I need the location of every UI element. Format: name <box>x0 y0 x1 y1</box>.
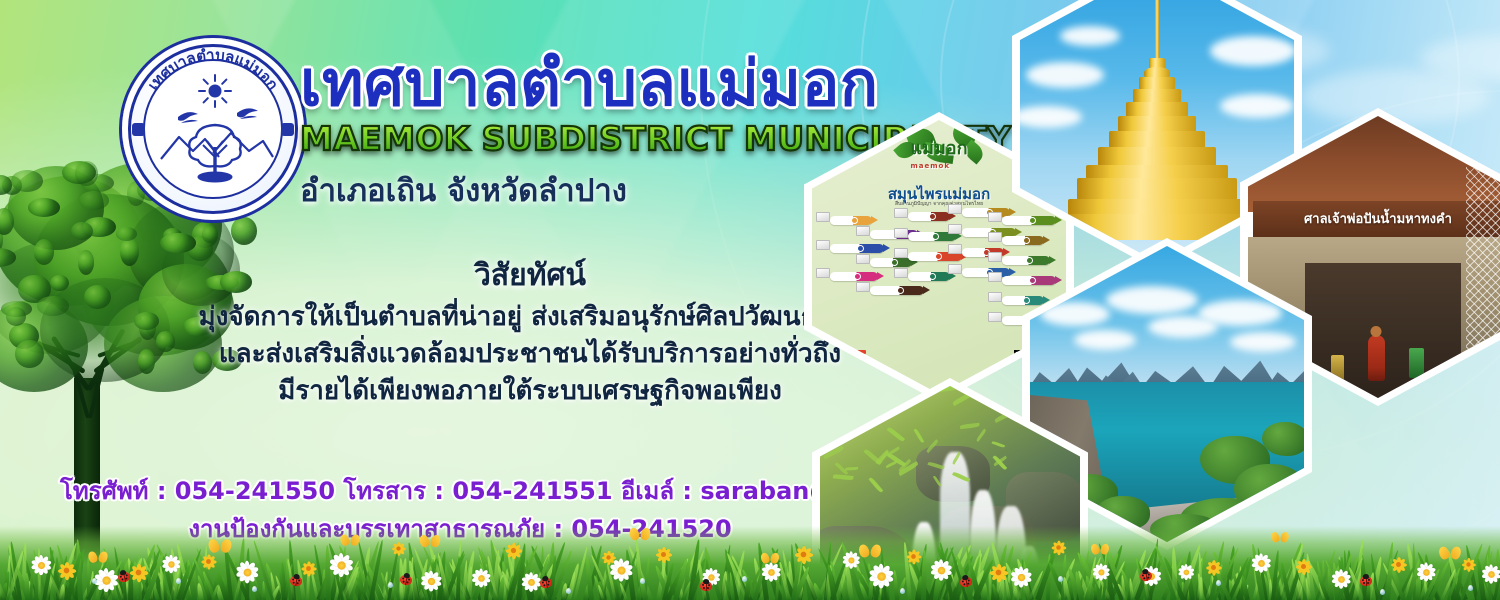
butterfly-wing <box>349 534 361 547</box>
poster-product-box <box>894 208 908 218</box>
poster-pill-dot <box>857 245 864 252</box>
poster-pill-dot <box>1029 277 1036 284</box>
daisy-flower <box>235 560 260 585</box>
butterfly-wing <box>857 543 870 558</box>
butterfly-wing <box>1279 531 1290 543</box>
poster-pill-dot <box>897 287 904 294</box>
poster-pill-dot <box>929 213 936 220</box>
leaf <box>864 391 884 403</box>
yellow-flower-center <box>64 567 70 573</box>
butterfly-wing <box>869 543 882 558</box>
daisy-flower <box>471 568 492 589</box>
butterfly-icon <box>209 539 232 555</box>
daisy-flower <box>419 570 442 593</box>
poster-product-box <box>856 282 870 292</box>
pagoda-caption: วัดทุ่ง บ้านทุ่ง อำเภอ <box>1255 0 1286 7</box>
dew-drop <box>566 588 571 594</box>
yellow-flower <box>989 563 1009 583</box>
dew-drop <box>388 582 393 588</box>
daisy-center <box>478 575 485 582</box>
poster-product-pill <box>908 272 950 281</box>
butterfly-icon <box>630 528 651 542</box>
cloud <box>1230 332 1296 352</box>
sun-icon <box>199 75 231 107</box>
tree-leaf-cluster <box>34 239 54 264</box>
daisy-center <box>528 579 535 586</box>
vegetation-patch <box>1262 422 1304 456</box>
tree-leaf-cluster <box>15 340 44 367</box>
daisy-center <box>937 567 945 575</box>
poster-product-box <box>988 292 1002 302</box>
cloud <box>1074 330 1136 350</box>
poster-pill-dot <box>935 253 942 260</box>
butterfly-wing <box>760 551 771 564</box>
poster-product-box <box>816 268 830 278</box>
vision-statement: วิสัยทัศน์ มุ่งจัดการให้เป็นตำบลที่น่าอย… <box>180 252 880 410</box>
poster-product-pill <box>1002 276 1056 285</box>
daisy-center <box>168 561 174 567</box>
butterfly-icon <box>420 534 440 548</box>
butterfly-wing <box>1099 543 1110 556</box>
poster-product-box <box>988 232 1002 242</box>
poster-chip <box>840 362 866 366</box>
butterfly-wing <box>207 537 221 553</box>
daisy-center <box>848 557 854 563</box>
leaf <box>879 387 892 393</box>
yellow-flower <box>655 546 672 563</box>
shrine-signboard: ศาลเจ้าพ่อปันน้ำมหาทงคำ <box>1253 201 1500 238</box>
pagoda-caption-line3: อำเภอ <box>1255 0 1286 7</box>
tree-leaf-cluster <box>75 161 97 186</box>
poster-pill-dot <box>1026 257 1033 264</box>
poster-product-box <box>816 240 830 250</box>
yellow-flower <box>1051 540 1067 556</box>
poster-product-pill <box>870 286 924 295</box>
poster-subtitle: สืบสานภูมิปัญญา จากคุณค่าสมุนไพรไทย <box>812 200 1066 208</box>
yellow-flower <box>391 541 406 556</box>
daisy-center <box>337 561 345 569</box>
poster-product-box <box>988 312 1002 322</box>
butterfly-icon <box>1439 546 1460 561</box>
yellow-flower <box>129 562 149 582</box>
poster-product-box <box>948 244 962 254</box>
tree-leaf-cluster <box>11 170 43 192</box>
yellow-flower <box>200 554 216 570</box>
daisy-center <box>708 574 714 580</box>
ladybug-spot <box>708 584 710 586</box>
butterfly-wing <box>429 533 441 547</box>
cloud <box>1148 316 1218 338</box>
bird-icon <box>178 112 198 123</box>
ladybug-icon <box>399 574 413 586</box>
dew-drop <box>1380 589 1385 595</box>
yellow-flower-center <box>606 555 610 559</box>
tree-leaf-cluster <box>6 307 27 326</box>
yellow-flower <box>505 542 523 560</box>
emblem-inner-circle <box>143 59 283 199</box>
yellow-flower <box>1205 559 1222 576</box>
poster-pill-dot <box>1023 237 1030 244</box>
daisy-flower <box>1330 569 1351 590</box>
daisy-center <box>1017 573 1024 580</box>
daisy-flower <box>1415 561 1436 582</box>
poster-product-box <box>894 268 908 278</box>
municipality-emblem: เทศบาลตำบลแม่มอก จังหวัดลำปาง <box>122 38 304 220</box>
tree-leaf-cluster <box>84 285 111 309</box>
tree-leaf-cluster <box>79 191 109 210</box>
daisy-center <box>102 576 110 584</box>
vision-line: มีรายได้เพียงพอภายใต้ระบบเศรษฐกิจพอเพียง <box>180 373 880 410</box>
poster-product-pill <box>830 272 878 281</box>
daisy-center <box>1183 569 1189 575</box>
poster-product-pill <box>1002 256 1050 265</box>
poster-product-box <box>948 264 962 274</box>
yellow-flower-center <box>1211 565 1216 570</box>
poster-product-box <box>894 228 908 238</box>
daisy-flower <box>841 550 860 569</box>
poster-product-pill <box>962 268 1010 277</box>
butterfly-wing <box>1090 543 1101 556</box>
ladybug-head <box>403 572 410 578</box>
butterfly-wing <box>1449 545 1462 560</box>
tree-icon <box>189 125 241 182</box>
leaf <box>842 415 860 424</box>
statue-head <box>1371 326 1382 337</box>
grass-border <box>0 526 1500 600</box>
dew-drop <box>92 578 97 584</box>
poster-product-pill <box>870 258 912 267</box>
daisy-flower <box>520 571 542 593</box>
yellow-flower <box>794 545 813 564</box>
daisy-flower <box>867 562 894 589</box>
butterfly-wing <box>87 550 99 564</box>
poster-product-box <box>894 248 908 258</box>
leaf <box>845 395 867 406</box>
butterfly-icon <box>859 544 881 559</box>
daisy-flower <box>1480 563 1500 584</box>
butterfly-wing <box>1438 545 1451 560</box>
poster-product-box <box>988 252 1002 262</box>
poster-product-box <box>856 226 870 236</box>
yellow-flower <box>1461 557 1476 572</box>
yellow-flower <box>300 561 316 577</box>
leaf <box>845 467 858 471</box>
yellow-flower <box>906 548 922 564</box>
bird-icon <box>237 108 258 119</box>
poster-pill-dot <box>854 273 861 280</box>
yellow-flower-center <box>1301 564 1306 569</box>
poster-pill-dot <box>1029 217 1036 224</box>
ladybug-icon <box>1360 576 1372 586</box>
yellow-flower <box>57 560 76 579</box>
tree-leaf-cluster <box>50 275 69 292</box>
poster-logo-main: แม่มอก <box>910 138 967 159</box>
poster-pill-dot <box>1023 297 1030 304</box>
vision-line: มุ่งจัดการให้เป็นตำบลที่น่าอยู่ ส่งเสริม… <box>180 299 880 336</box>
yellow-flower <box>601 550 616 565</box>
shrine-caption: ศาลเจ้าพ่อปันน้ำมหาทงคำ <box>1304 208 1452 229</box>
tree-leaf-cluster <box>78 250 95 275</box>
tree-leaf-cluster <box>134 312 160 330</box>
butterfly-wing <box>219 537 233 553</box>
daisy-center <box>1098 569 1104 575</box>
daisy-center <box>877 571 886 580</box>
poster-product-pill <box>1002 296 1044 305</box>
dew-drop <box>1058 576 1063 582</box>
tree-leaf-cluster <box>231 217 257 244</box>
shrine-mesh-gate <box>1466 167 1500 398</box>
poster-logo-sub: maemok <box>910 162 967 170</box>
shrine-statue <box>1368 335 1385 381</box>
ladybug-icon <box>1139 570 1152 582</box>
butterfly-wing <box>1270 531 1281 543</box>
daisy-center <box>37 561 44 568</box>
poster-product-pill <box>1002 236 1044 245</box>
daisy-center <box>427 578 434 585</box>
butterfly-wing <box>628 527 641 542</box>
daisy-flower <box>328 552 354 578</box>
ladybug-head <box>703 579 709 584</box>
emblem-right-ornament <box>281 123 294 136</box>
shrine-offering <box>1409 348 1424 378</box>
poster-logo: แม่มอก maemok <box>910 133 967 170</box>
poster-product-box <box>948 224 962 234</box>
emblem-left-ornament <box>132 123 145 136</box>
butterfly-wing <box>769 551 780 564</box>
butterfly-icon <box>1271 532 1288 544</box>
butterfly-icon <box>761 552 779 564</box>
tree-leaf-cluster <box>116 227 137 241</box>
poster-product-pill <box>908 212 950 221</box>
municipality-banner: เทศบาลตำบลแม่มอก จังหวัดลำปาง <box>0 0 1500 600</box>
cloud <box>1106 286 1198 314</box>
yellow-flower <box>1295 558 1312 575</box>
contact-phone-fax-email: โทรศัพท์ : 054-241550 โทรสาร : 054-24155… <box>60 472 860 510</box>
butterfly-wing <box>97 550 109 564</box>
dew-drop <box>640 578 645 584</box>
leaf <box>828 410 842 417</box>
daisy-flower <box>1177 563 1195 581</box>
daisy-center <box>1423 568 1430 575</box>
poster-pill-dot <box>891 259 898 266</box>
vision-line: และส่งเสริมสิ่งแวดล้อมประชาชนได้รับบริกา… <box>180 336 880 373</box>
butterfly-icon <box>88 551 107 564</box>
poster-product-box <box>948 204 962 214</box>
tree-leaf-cluster <box>37 296 68 316</box>
poster-product-pill <box>830 244 884 253</box>
butterfly-wing <box>339 534 351 547</box>
yellow-flower <box>1390 557 1407 574</box>
poster-product-pill <box>1002 216 1056 225</box>
poster-product-pill <box>830 216 872 225</box>
ladybug-spot <box>707 587 709 589</box>
daisy-flower <box>1250 552 1272 574</box>
poster-product-box <box>988 272 1002 282</box>
butterfly-wing <box>639 527 652 542</box>
poster-pill-dot <box>932 233 939 240</box>
poster-product-pill <box>962 208 1010 217</box>
emblem-scene <box>145 61 285 201</box>
daisy-flower <box>161 554 181 574</box>
tree-leaf-cluster <box>160 233 196 253</box>
poster-product-box <box>988 212 1002 222</box>
pagoda-spire <box>1155 0 1159 64</box>
ladybug-icon <box>700 580 712 590</box>
dew-drop <box>1468 585 1473 591</box>
daisy-flower <box>30 554 52 576</box>
yellow-flower-center <box>511 548 516 553</box>
dew-drop <box>252 586 257 592</box>
tree-leaf-cluster <box>71 222 93 240</box>
daisy-center <box>768 568 775 575</box>
butterfly-icon <box>1091 544 1109 556</box>
poster-chip <box>840 368 866 372</box>
yellow-flower-center <box>136 569 142 575</box>
butterfly-icon <box>341 535 360 548</box>
poster-pill-dot <box>851 217 858 224</box>
poster-product-box <box>816 212 830 222</box>
tree-leaf-cluster <box>138 349 155 374</box>
poster-product-box <box>856 254 870 264</box>
vision-heading: วิสัยทัศน์ <box>180 252 880 299</box>
dew-drop <box>900 588 905 594</box>
daisy-center <box>243 568 251 576</box>
daisy-center <box>1258 560 1265 567</box>
daisy-flower <box>929 558 953 582</box>
daisy-center <box>1488 571 1495 578</box>
daisy-flower <box>1091 562 1110 581</box>
daisy-center <box>1338 576 1345 583</box>
poster-pill-dot <box>929 273 936 280</box>
yellow-flower-center <box>911 554 916 559</box>
ladybug-icon <box>289 575 302 587</box>
daisy-center <box>617 566 625 574</box>
leaf <box>988 386 1006 398</box>
butterfly-wing <box>418 533 430 547</box>
daisy-flower <box>1009 565 1032 588</box>
photo-collage: แม่มอก maemok สมุนไพรแม่มอก สืบสานภูมิปั… <box>800 0 1500 600</box>
